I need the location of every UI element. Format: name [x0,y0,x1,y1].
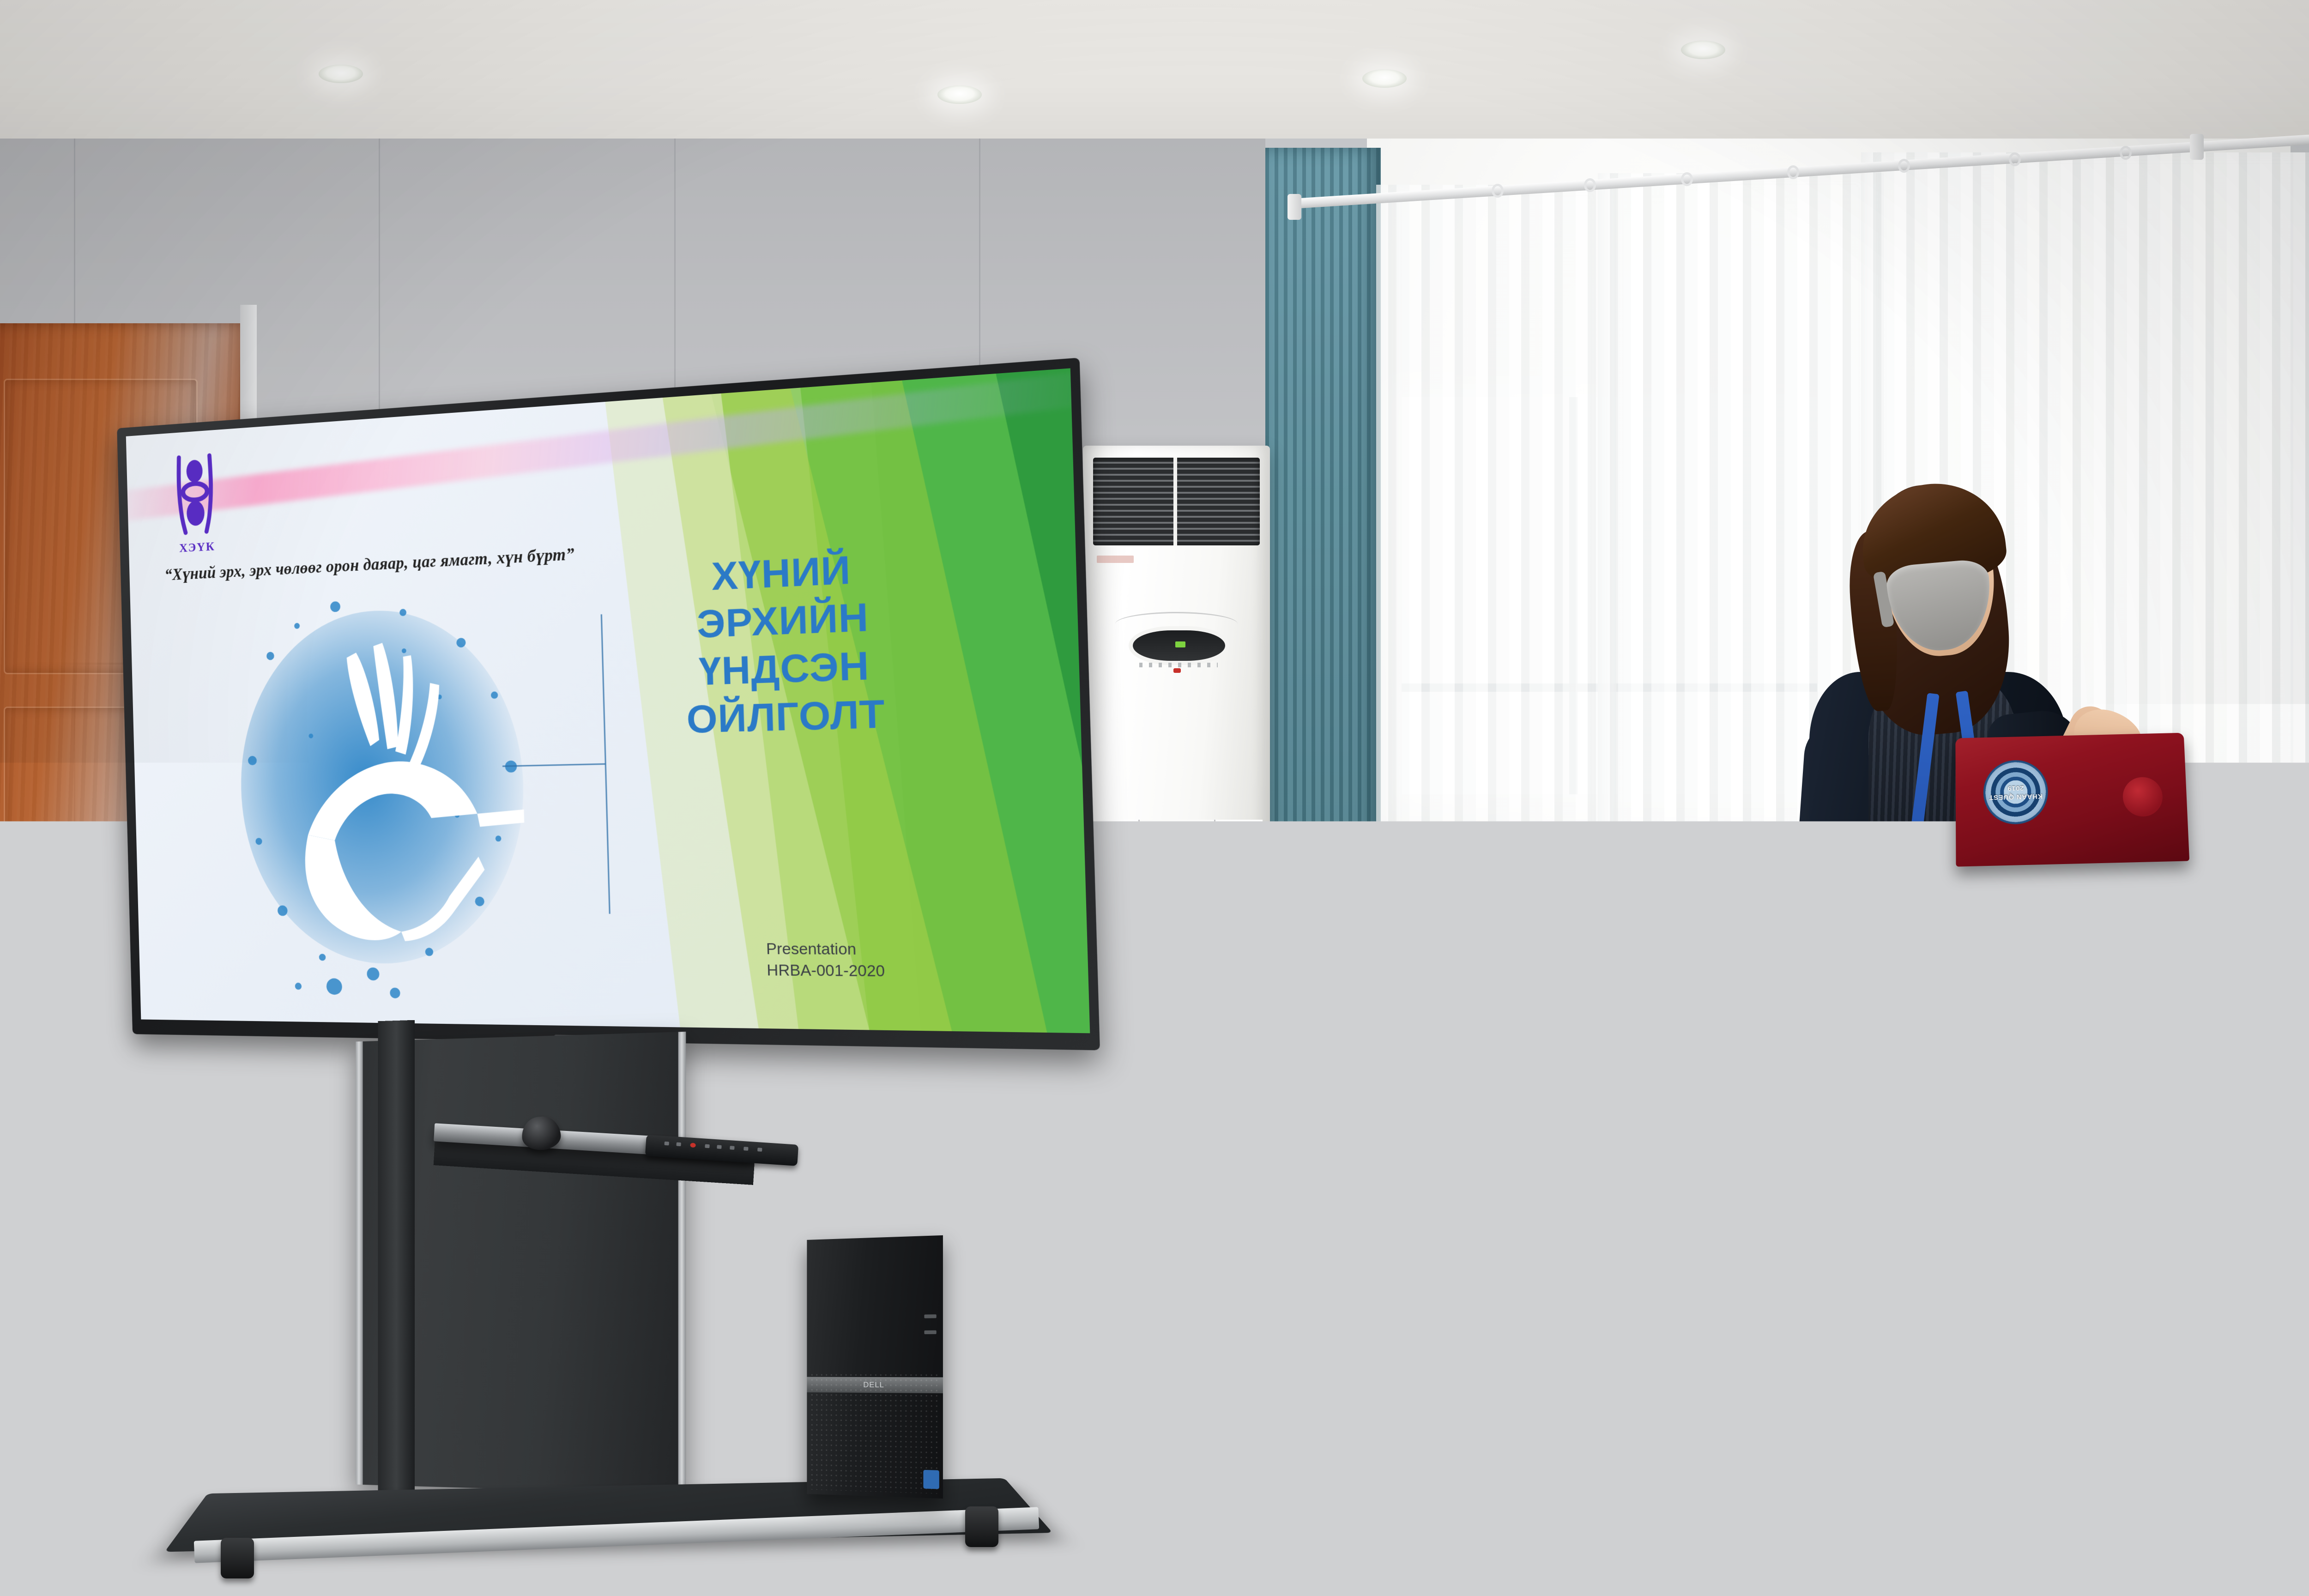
slide-title-line: ҮНДСЭН [588,637,989,699]
ac-power-button[interactable] [1173,668,1181,673]
ac-base [1088,1090,1265,1100]
downlight-icon [1681,41,1725,59]
slide-rule-lines [126,368,1090,1033]
pc-usb-ports[interactable] [924,1330,936,1334]
presentation-code: HRBA-001-2020 [767,960,992,983]
curtain-rod-bracket [2190,134,2204,160]
curtain-ring [1681,172,1693,186]
pc-usb-ports[interactable] [924,1314,936,1318]
curtain-ring [1787,165,1799,179]
pc-front-mesh [810,1372,940,1494]
ac-display-panel[interactable] [1133,630,1225,661]
sticker-text: KHAAN QUEST 2019 [1983,759,2049,825]
ac-display-led [1175,641,1185,647]
curtain-ring [2009,152,2021,166]
sheer-curtain-left[interactable] [1376,185,1616,1228]
laptop[interactable]: KHAAN QUEST 2019 [1955,733,2189,867]
downlight-icon [1362,69,1407,88]
caster-wheel [965,1506,998,1547]
curtain-ring [1492,184,1504,198]
presentation-label: Presentation [766,938,992,961]
id-badge [1922,923,1968,955]
conference-room-photo: ХЭҮК “Хүний эрх, эрх чөлөөг орон даяар, … [0,0,2309,1596]
blackout-curtain[interactable] [1265,148,1381,1164]
power-adapter-connector [1602,1486,1623,1515]
ac-button-row[interactable] [1139,663,1218,667]
curtain-ring [2120,146,2132,160]
tv-screen: ХЭҮК “Хүний эрх, эрх чөлөөг орон даяар, … [126,368,1090,1033]
slide-title: ХҮНИЙ ЭРХИЙН ҮНДСЭН ОЙЛГОЛТ [586,539,991,745]
sticker-line-2: 2019 [2007,783,2024,792]
curtain-ring [1584,178,1596,192]
slide-title-line: ЭРХИЙН [587,588,988,652]
slide-title-line: ХҮНИЙ [586,539,986,605]
downlight-icon [937,85,982,104]
sticker-line-1: KHAAN QUEST [1989,792,2043,801]
ac-front-curve [1115,612,1238,624]
curtain-rod-bracket [1287,194,1301,220]
podium-plinth [1824,1404,2309,1478]
television-display[interactable]: ХЭҮК “Хүний эрх, эрх чөлөөг орон даяар, … [117,358,1100,1051]
slide-presentation-meta: Presentation HRBA-001-2020 [592,938,992,982]
pc-intel-sticker [923,1470,939,1489]
ac-warning-sticker [1097,556,1134,563]
air-conditioner[interactable] [1083,446,1270,1092]
presenter-skirt [1826,1016,1951,1358]
power-adapter [1518,1479,1613,1523]
tv-stand-neck [378,1020,414,1492]
khaan-quest-sticker: KHAAN QUEST 2019 [1983,759,2049,825]
curtain-ring [1898,159,1910,173]
slide-title-line: ОЙЛГОЛТ [590,686,991,745]
chair-armrest [1105,866,1159,951]
downlight-icon [319,65,363,83]
presentation-slide: ХЭҮК “Хүний эрх, эрх чөлөөг орон даяар, … [126,368,1090,1033]
desktop-pc-tower[interactable]: DELL [807,1235,943,1499]
caster-wheel [221,1538,254,1578]
slide-green-decoration [605,368,1090,1033]
laptop-lid-accent [2122,777,2163,817]
